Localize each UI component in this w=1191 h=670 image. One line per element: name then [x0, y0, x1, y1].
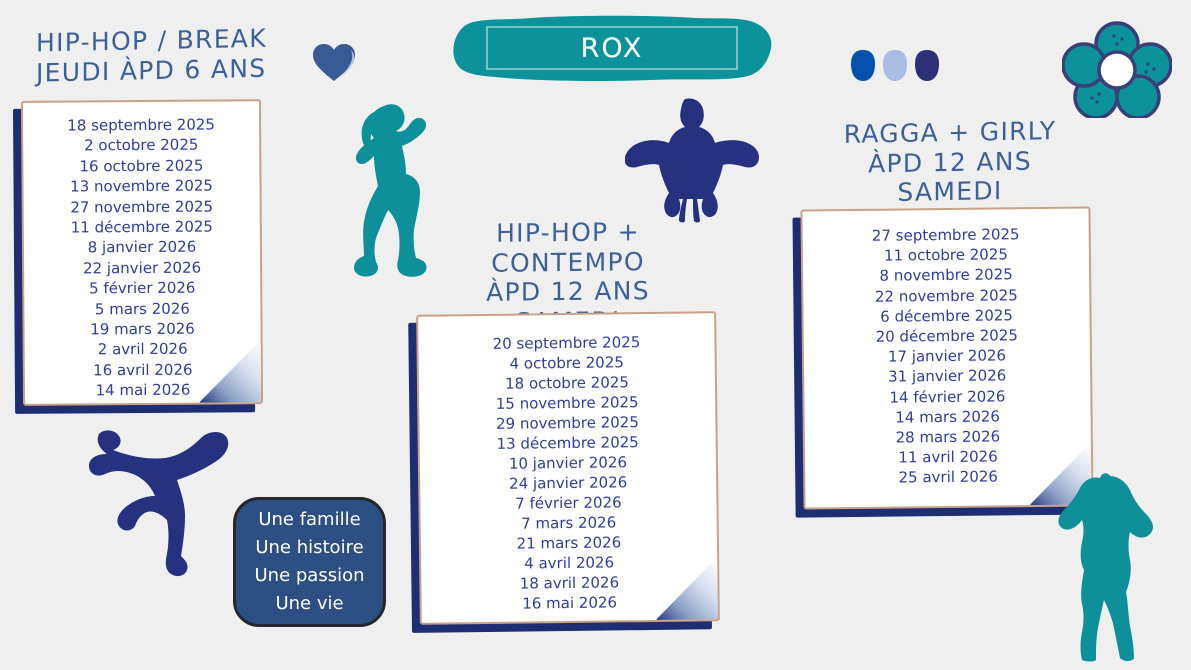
card-sheet: 20 septembre 20254 octobre 202518 octobr… — [416, 311, 720, 625]
breakdancer-freeze-silhouette-icon — [85, 420, 235, 590]
date-item: 2 avril 2026 — [25, 339, 261, 361]
breakdancer-silhouette-icon — [625, 95, 760, 225]
motto-line: Une histoire — [255, 534, 363, 562]
banner-title: ROX — [451, 12, 773, 84]
three-dots-icon — [845, 48, 945, 86]
date-item: 11 décembre 2025 — [24, 216, 260, 238]
date-item: 5 février 2026 — [24, 277, 260, 299]
date-list-right: 27 septembre 202511 octobre 20258 novemb… — [802, 209, 1091, 490]
schedule-card-hiphop-contempo: 20 septembre 20254 octobre 202518 octobr… — [416, 311, 720, 625]
date-item: 18 septembre 2025 — [23, 114, 259, 136]
motto-line: Une passion — [254, 562, 364, 590]
schedule-card-hiphop-break: 18 septembre 20252 octobre 202516 octobr… — [21, 99, 263, 406]
schedule-card-ragga-girly: 27 septembre 202511 octobre 20258 novemb… — [800, 206, 1093, 509]
heading-ragga-girly: RAGGA + GIRLY ÀPD 12 ANS SAMEDI — [840, 116, 1060, 208]
date-item: 5 mars 2026 — [24, 298, 260, 320]
dancer-silhouette-icon — [1050, 470, 1165, 665]
date-item: 2 octobre 2025 — [23, 135, 259, 157]
card-sheet: 27 septembre 202511 octobre 20258 novemb… — [800, 206, 1093, 509]
motto-line: Une vie — [275, 590, 343, 618]
poster-canvas: ROX HIP-HOP / BREAK JEUDI ÀPD 6 ANS HIP-… — [0, 0, 1191, 670]
date-list-center: 20 septembre 20254 octobre 202518 octobr… — [418, 313, 718, 615]
dancer-silhouette-icon — [340, 100, 450, 290]
date-item: 19 mars 2026 — [24, 318, 260, 340]
date-item: 25 avril 2026 — [805, 466, 1091, 489]
flower-icon — [1062, 18, 1172, 118]
heading-hiphop-break: HIP-HOP / BREAK JEUDI ÀPD 6 ANS — [36, 23, 276, 87]
date-item: 16 octobre 2025 — [23, 155, 259, 177]
date-list-left: 18 septembre 20252 octobre 202516 octobr… — [23, 101, 261, 401]
date-item: 27 novembre 2025 — [24, 196, 260, 218]
date-item: 22 janvier 2026 — [24, 257, 260, 279]
heart-icon — [310, 40, 358, 84]
motto-box: Une familleUne histoireUne passionUne vi… — [233, 497, 386, 627]
motto-line: Une famille — [258, 506, 360, 534]
date-item: 8 janvier 2026 — [24, 237, 260, 259]
date-item: 13 novembre 2025 — [23, 175, 259, 197]
title-banner: ROX — [451, 12, 773, 84]
card-sheet: 18 septembre 20252 octobre 202516 octobr… — [21, 99, 263, 406]
